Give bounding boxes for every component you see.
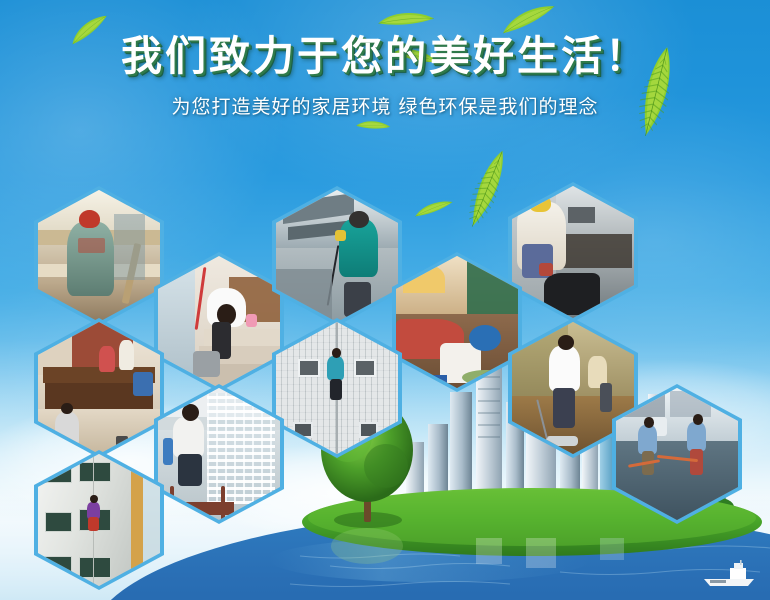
hex-handrail-painting-photo	[38, 322, 160, 454]
hex-stair-mopping[interactable]	[154, 252, 284, 392]
hex-stair-mopping-photo	[158, 256, 280, 388]
hex-kitchen-hood-degrease-photo	[512, 186, 634, 318]
hex-facade-rope-access[interactable]	[272, 318, 402, 458]
hex-tile-masonry-worker[interactable]	[34, 186, 164, 326]
page-subtitle: 为您打造美好的家居环境 绿色环保是我们的理念	[0, 92, 770, 119]
hex-building-exterior-drop[interactable]	[34, 450, 164, 590]
hex-kitchen-hood-degrease[interactable]	[508, 182, 638, 322]
page-title: 我们致力于您的美好生活！	[0, 34, 770, 78]
hex-tile-masonry-worker-photo	[38, 190, 160, 322]
headline-block: 我们致力于您的美好生活！ 为您打造美好的家居环境 绿色环保是我们的理念	[0, 34, 770, 119]
hex-facade-rope-access-photo	[276, 322, 398, 454]
hex-carpet-polisher-photo	[396, 256, 518, 388]
hex-chandelier-cleaning[interactable]	[154, 384, 284, 524]
hex-chandelier-cleaning-photo	[158, 388, 280, 520]
hex-handrail-painting[interactable]	[34, 318, 164, 458]
hex-carpet-polisher[interactable]	[392, 252, 522, 392]
hex-rooftop-washing-photo	[616, 388, 738, 520]
hex-building-exterior-drop-photo	[38, 454, 160, 586]
promo-banner: 我们致力于您的美好生活！ 为您打造美好的家居环境 绿色环保是我们的理念	[0, 0, 770, 600]
hex-duct-ceiling-cleaning-photo	[276, 190, 398, 322]
hex-duct-ceiling-cleaning[interactable]	[272, 186, 402, 326]
